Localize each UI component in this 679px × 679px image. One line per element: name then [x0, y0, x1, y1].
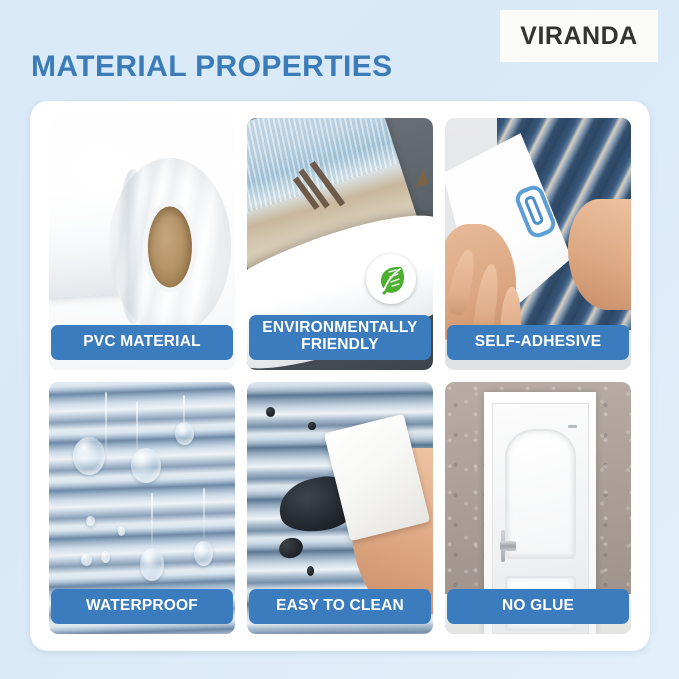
feature-label-line2: FRIENDLY — [251, 337, 429, 353]
feature-label-no-glue: NO GLUE — [447, 589, 629, 624]
feature-tile-easy-to-clean[interactable]: EASY TO CLEAN — [247, 382, 433, 634]
feature-grid: PVC MATERIAL — [30, 101, 650, 651]
brand-logo-box: VIRANDA — [500, 10, 658, 62]
feature-label-easy-to-clean: EASY TO CLEAN — [249, 589, 431, 624]
feature-card: PVC MATERIAL — [30, 101, 650, 651]
feature-tile-self-adhesive[interactable]: SELF-ADHESIVE — [445, 118, 631, 370]
feature-label-waterproof: WATERPROOF — [51, 589, 233, 624]
feature-tile-waterproof[interactable]: WATERPROOF — [49, 382, 235, 634]
feature-tile-pvc-material[interactable]: PVC MATERIAL — [49, 118, 235, 370]
feature-tile-no-glue[interactable]: NO GLUE — [445, 382, 631, 634]
feature-label-line1: ENVIRONMENTALLY — [251, 320, 429, 336]
feature-label-pvc-material: PVC MATERIAL — [51, 325, 233, 360]
page-title: MATERIAL PROPERTIES — [31, 50, 393, 84]
brand-name: VIRANDA — [520, 22, 637, 51]
feature-label-self-adhesive: SELF-ADHESIVE — [447, 325, 629, 360]
feature-tile-environmentally-friendly[interactable]: ENVIRONMENTALLY FRIENDLY — [247, 118, 433, 370]
feature-label-environmentally-friendly: ENVIRONMENTALLY FRIENDLY — [249, 315, 431, 360]
